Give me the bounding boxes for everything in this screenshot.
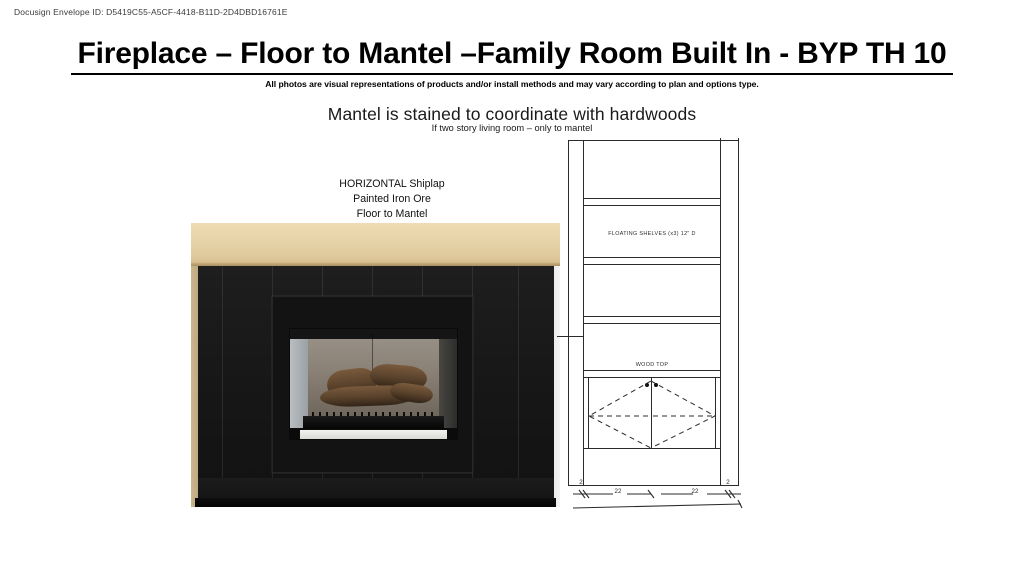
dim-label-left-end: 2: [571, 479, 591, 486]
shiplap-callout-line-1: HORIZONTAL Shiplap: [302, 177, 482, 192]
shiplap-callout-line-3: Floor to Mantel: [302, 207, 482, 222]
fireplace-photo: [191, 223, 560, 507]
document-page: Docusign Envelope ID: D5419C55-A5CF-4418…: [0, 0, 1024, 575]
photo-lower-panels: [198, 478, 554, 500]
photo-wood-mantel: [191, 223, 560, 265]
photo-firebox: [289, 328, 458, 440]
photo-plank-seam: [518, 266, 519, 498]
mantel-note-secondary: If two story living room – only to mante…: [0, 123, 1024, 133]
overall-dimension-line: [573, 504, 741, 508]
docusign-envelope-id: Docusign Envelope ID: D5419C55-A5CF-4418…: [14, 7, 288, 17]
photo-baseboard: [195, 498, 556, 507]
cabinet-elevation-drawing: FLOATING SHELVES (x3) 12" D WOOD TOP 2 2…: [565, 138, 750, 513]
firebox-top-shadow: [290, 329, 457, 339]
dimension-line-group: [565, 138, 750, 513]
firebox-hearth-floor: [300, 430, 447, 439]
dim-label-left-bay: 22: [608, 488, 628, 495]
photo-plank-seam: [222, 266, 223, 498]
firebox-right-wall: [439, 329, 457, 428]
dim-label-right-end: 2: [718, 479, 738, 486]
firebox-ember-bed: [303, 416, 443, 429]
disclaimer-text: All photos are visual representations of…: [0, 79, 1024, 89]
shiplap-callout: HORIZONTAL Shiplap Painted Iron Ore Floo…: [302, 177, 482, 222]
mantel-note-primary: Mantel is stained to coordinate with har…: [0, 104, 1024, 125]
firebox-left-wall: [290, 329, 308, 428]
shiplap-callout-line-2: Painted Iron Ore: [302, 192, 482, 207]
dim-label-right-bay: 22: [685, 488, 705, 495]
page-title: Fireplace – Floor to Mantel –Family Room…: [71, 38, 952, 75]
page-title-container: Fireplace – Floor to Mantel –Family Room…: [0, 38, 1024, 75]
